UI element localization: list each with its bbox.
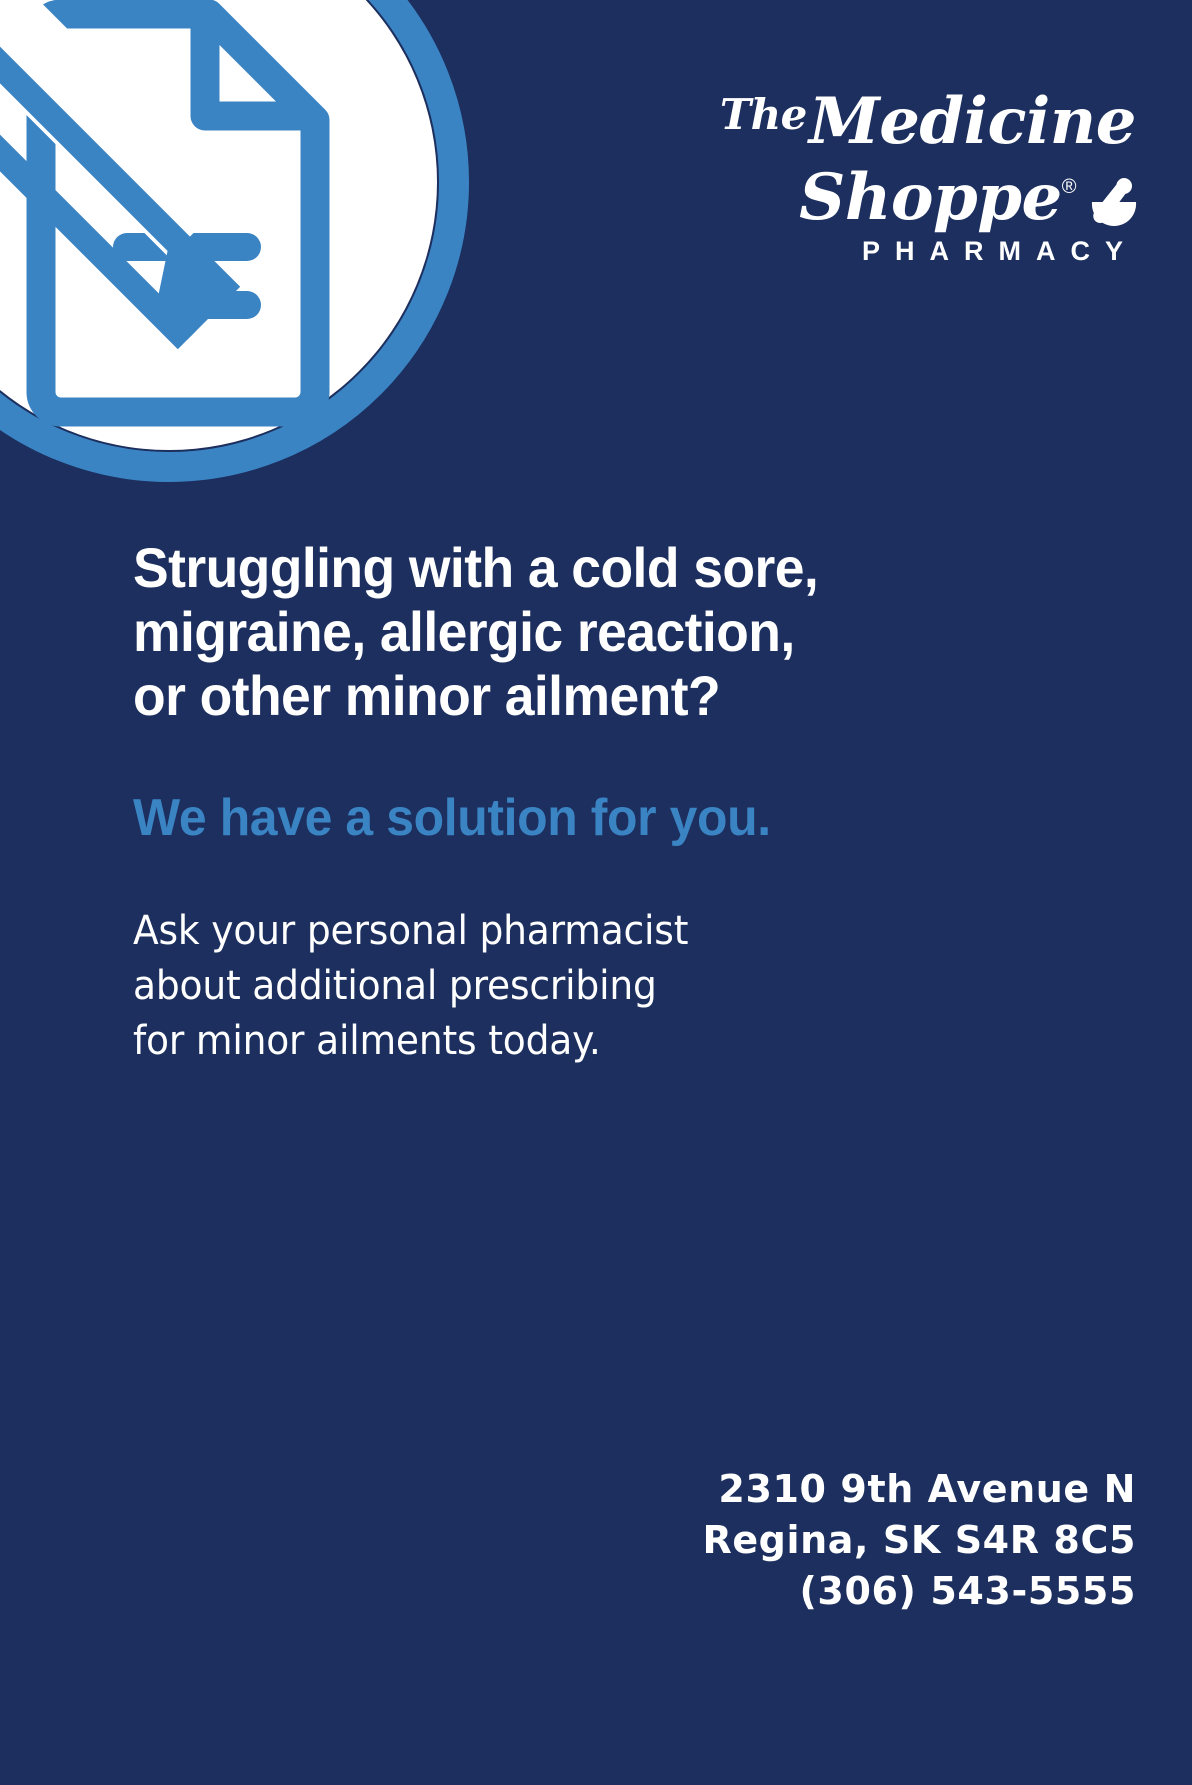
body-copy-line-1: Ask your personal pharmacist: [133, 904, 941, 959]
brand-logo: TheMedicine Shoppe® PHARMACY: [718, 82, 1138, 267]
address-phone[interactable]: (306) 543-5555: [702, 1566, 1136, 1617]
store-address-block: 2310 9th Avenue N Regina, SK S4R 8C5 (30…: [702, 1464, 1136, 1617]
logo-medicine-text: Medicine: [809, 84, 1136, 159]
address-city-province-postal: Regina, SK S4R 8C5: [702, 1515, 1136, 1566]
headline-line-3: or other minor ailment?: [133, 664, 954, 728]
body-copy: Ask your personal pharmacist about addit…: [133, 846, 941, 1069]
registered-trademark-icon: ®: [1062, 176, 1076, 198]
headline-line-2: migraine, allergic reaction,: [133, 600, 954, 664]
subheadline: We have a solution for you.: [133, 728, 959, 846]
address-street: 2310 9th Avenue N: [702, 1464, 1136, 1515]
logo-shoppe-line: Shoppe®: [718, 155, 1138, 230]
logo-the-text: The: [720, 90, 809, 139]
poster-canvas: TheMedicine Shoppe® PHARMACY Struggling …: [0, 0, 1192, 1785]
headline-line-1: Struggling with a cold sore,: [133, 536, 954, 600]
logo-shoppe-text: Shoppe: [799, 160, 1062, 235]
mortar-and-pestle-icon: [1080, 176, 1138, 230]
headline: Struggling with a cold sore, migraine, a…: [133, 536, 954, 728]
body-copy-line-2: about additional prescribing: [133, 959, 941, 1014]
copy-block: Struggling with a cold sore, migraine, a…: [133, 536, 993, 1069]
body-copy-line-3: for minor ailments today.: [133, 1014, 941, 1069]
logo-pharmacy-text: PHARMACY: [718, 236, 1138, 267]
document-with-pencil-badge: [0, 0, 469, 482]
logo-medicine-line: TheMedicine: [718, 82, 1138, 155]
